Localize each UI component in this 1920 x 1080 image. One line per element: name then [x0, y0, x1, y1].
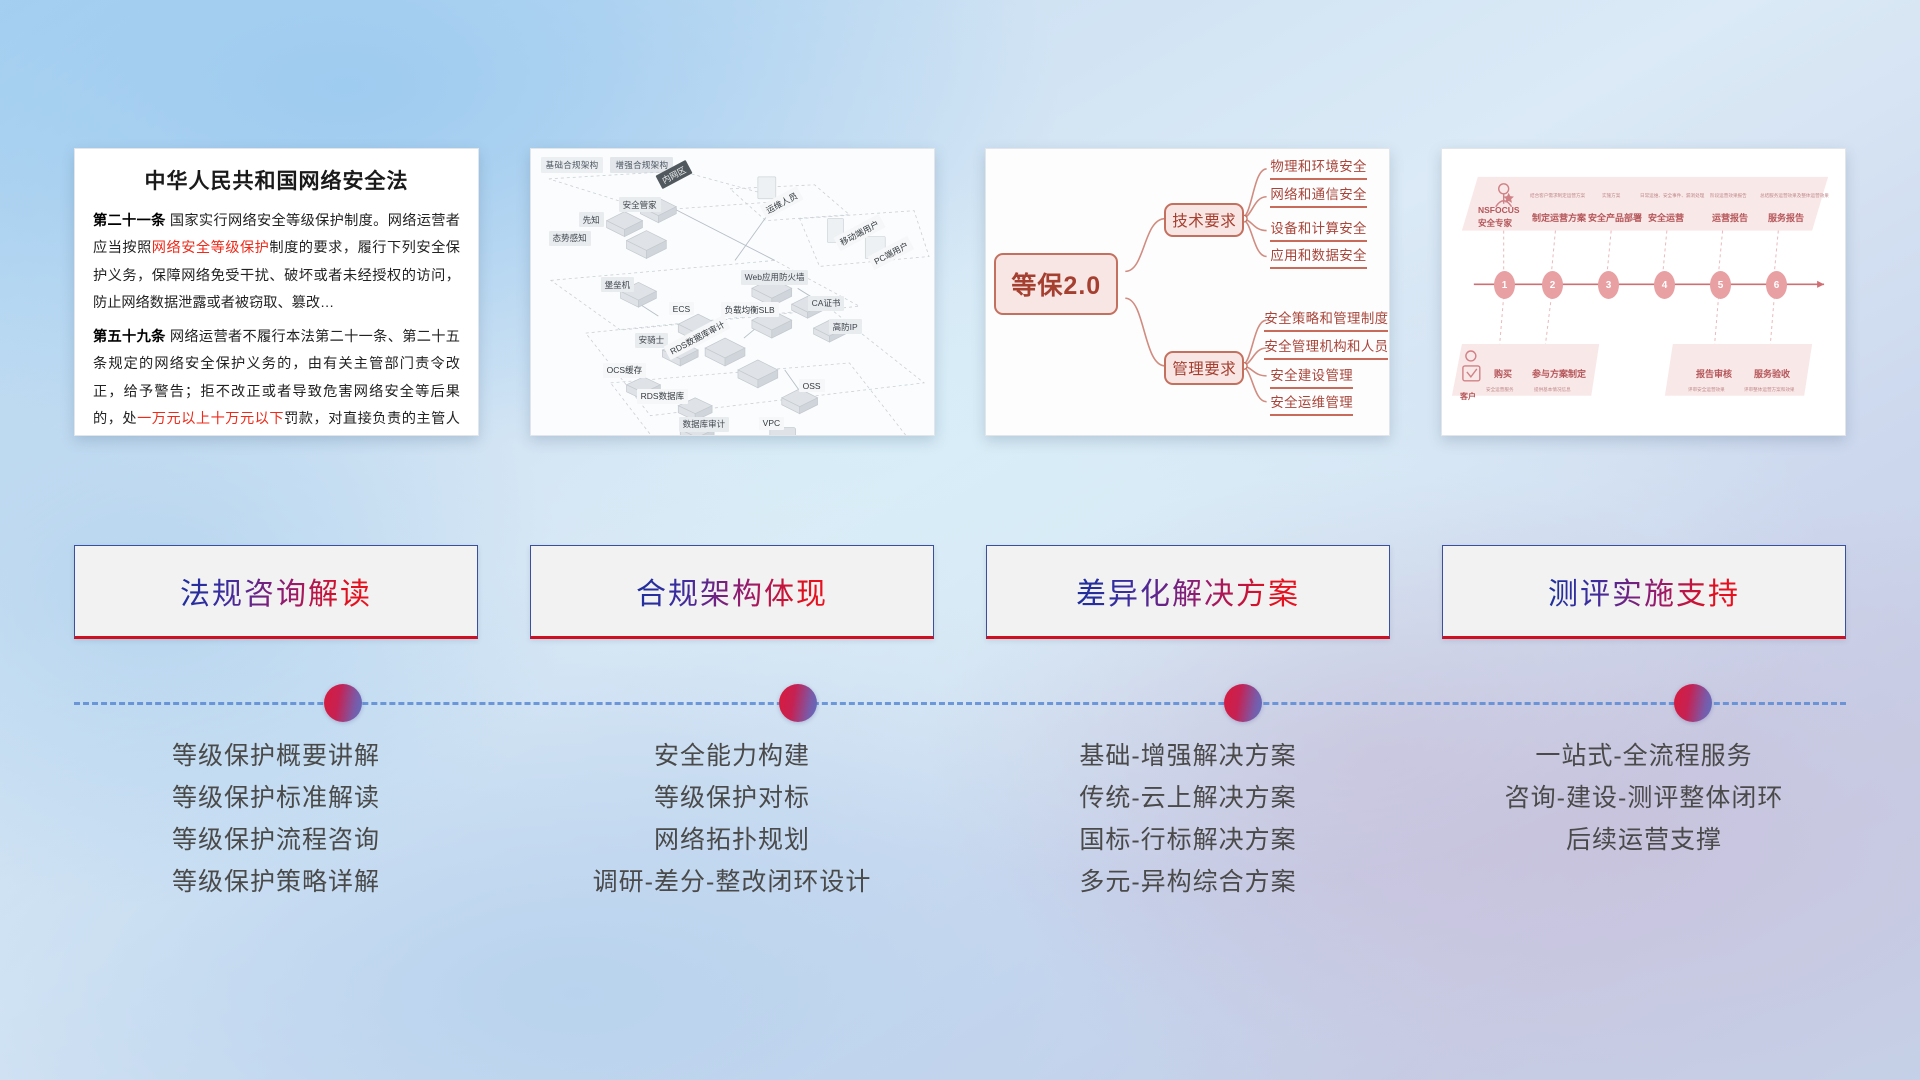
architecture-node-14: 负载均衡SLB: [721, 302, 779, 317]
list-item: 等级保护标准解读: [74, 777, 478, 819]
list-item: 等级保护概要讲解: [74, 735, 478, 777]
flow-bottom-sub-3: 评审安全运营效果: [1688, 387, 1725, 393]
flow-top-title-5: 服务报告: [1768, 211, 1804, 224]
section-lists-row: 等级保护概要讲解 等级保护标准解读 等级保护流程咨询 等级保护策略详解 安全能力…: [0, 735, 1920, 995]
article-21-highlight: 网络安全等级保护: [152, 240, 270, 256]
card-law-text: 中华人民共和国网络安全法 第二十一条 国家实行网络安全等级保护制度。网络运营者应…: [74, 148, 479, 436]
architecture-node-20: VPC: [759, 417, 784, 430]
list-item: 基础-增强解决方案: [986, 735, 1390, 777]
flow-step-number-4: 4: [1654, 271, 1675, 299]
flow-actor-expert-name: NSFOCUS: [1478, 205, 1520, 215]
list-item: 安全能力构建: [530, 735, 934, 777]
flow-top-sub-1: 结合客户需求制定运营方案: [1530, 193, 1585, 199]
article-21-label: 第二十一条: [93, 213, 166, 229]
mindmap-leaf-mgmt-4: 安全运维管理: [1270, 391, 1353, 416]
list-item: 等级保护流程咨询: [74, 819, 478, 861]
section-title-box-4[interactable]: 测评实施支持: [1442, 545, 1846, 639]
architecture-canvas: [531, 149, 934, 436]
mindmap-root-node[interactable]: 等保2.0: [994, 253, 1118, 315]
mindmap-branch-management[interactable]: 管理要求: [1164, 351, 1244, 385]
flow-step-number-6: 6: [1766, 271, 1787, 299]
section-list-1: 等级保护概要讲解 等级保护标准解读 等级保护流程咨询 等级保护策略详解: [74, 735, 478, 995]
flow-step-number-5: 5: [1710, 271, 1731, 299]
card-architecture-diagram: 基础合规架构 增强合规架构: [530, 148, 935, 436]
architecture-node-4: 态势感知: [549, 231, 591, 246]
flow-bottom-sub-2: 提供基本情况信息: [1534, 387, 1571, 393]
flow-top-title-4: 运营报告: [1712, 211, 1748, 224]
flow-top-sub-3: 日常运维、安全事件、漏洞处理: [1640, 193, 1704, 199]
timeline: [74, 680, 1846, 730]
mindmap-leaf-mgmt-2: 安全管理机构和人员: [1264, 335, 1388, 360]
architecture-node-16: 高防IP: [829, 319, 862, 334]
flow-top-sub-4: 阶段运营效果报告: [1710, 193, 1747, 199]
flow-bottom-sub-1: 安全运营服务: [1486, 387, 1514, 393]
law-title: 中华人民共和国网络安全法: [93, 165, 460, 195]
architecture-node-19: OSS: [799, 379, 825, 392]
mindmap-branch-technical[interactable]: 技术要求: [1164, 203, 1244, 237]
flow-top-sub-5: 总结服务运营效果及整体运营效果: [1760, 193, 1829, 199]
flow-step-number-3: 3: [1598, 271, 1619, 299]
article-59-highlight-1: 一万元以上十万元以下: [137, 411, 284, 427]
flow-top-title-2: 安全产品部署: [1588, 211, 1642, 224]
flow-bottom-title-1: 购买: [1494, 367, 1512, 380]
list-item: 多元-异构综合方案: [986, 861, 1390, 903]
list-item: 调研-差分-整改闭环设计: [530, 861, 934, 903]
section-title-label-3: 差异化解决方案: [1076, 569, 1300, 613]
list-item: 一站式-全流程服务: [1442, 735, 1846, 777]
architecture-node-15: CA证书: [808, 296, 845, 311]
flow-bottom-sub-4: 评审整体运营方案和效果: [1744, 387, 1795, 393]
timeline-dot-1[interactable]: [324, 684, 362, 722]
section-title-box-1[interactable]: 法规咨询解读: [74, 545, 478, 639]
section-list-3: 基础-增强解决方案 传统-云上解决方案 国标-行标解决方案 多元-异构综合方案: [986, 735, 1390, 995]
timeline-dot-3[interactable]: [1224, 684, 1262, 722]
timeline-dot-2[interactable]: [779, 684, 817, 722]
mindmap-leaf-mgmt-1: 安全策略和管理制度: [1264, 307, 1388, 332]
card-service-flow: NSFOCUS 安全专家 客户 结合客户需求制定运营方案 制定运营方案 实施方案…: [1441, 148, 1846, 436]
mindmap-leaf-tech-4: 应用和数据安全: [1270, 244, 1367, 269]
law-article-59: 第五十九条 网络运营者不履行本法第二十一条、第二十五条规定的网络安全保护义务的，…: [93, 324, 460, 436]
flow-bottom-title-4: 服务验收: [1754, 367, 1790, 380]
section-list-4: 一站式-全流程服务 咨询-建设-测评整体闭环 后续运营支撑: [1442, 735, 1846, 995]
section-title-label-4: 测评实施支持: [1548, 569, 1740, 613]
article-59-label: 第五十九条: [93, 329, 166, 345]
flow-top-sub-2: 实施方案: [1602, 193, 1620, 199]
architecture-node-11: 数据库审计: [679, 417, 730, 432]
section-title-label-1: 法规咨询解读: [180, 569, 372, 613]
flow-step-number-2: 2: [1542, 271, 1563, 299]
law-article-21: 第二十一条 国家实行网络安全等级保护制度。网络运营者应当按照网络安全等级保护制度…: [93, 208, 460, 317]
flow-bottom-title-3: 报告审核: [1696, 367, 1732, 380]
cards-row: 中华人民共和国网络安全法 第二十一条 国家实行网络安全等级保护制度。网络运营者应…: [0, 148, 1920, 446]
list-item: 国标-行标解决方案: [986, 819, 1390, 861]
architecture-node-5: 堡垒机: [601, 277, 635, 292]
list-item: 等级保护对标: [530, 777, 934, 819]
architecture-node-9: OCS缓存: [603, 363, 646, 378]
flow-step-number-1: 1: [1494, 271, 1515, 299]
flow-actor-expert-role: 安全专家: [1478, 217, 1512, 229]
flow-bottom-title-2: 参与方案制定: [1532, 367, 1586, 380]
mindmap-leaf-tech-2: 网络和通信安全: [1270, 183, 1367, 208]
mindmap-leaf-mgmt-3: 安全建设管理: [1270, 364, 1353, 389]
section-title-label-2: 合规架构体现: [636, 569, 828, 613]
list-item: 咨询-建设-测评整体闭环: [1442, 777, 1846, 819]
section-titles-row: 法规咨询解读 合规架构体现 差异化解决方案 测评实施支持: [0, 545, 1920, 641]
section-title-box-2[interactable]: 合规架构体现: [530, 545, 934, 639]
architecture-node-3: 先知: [579, 212, 604, 227]
list-item: 网络拓扑规划: [530, 819, 934, 861]
architecture-node-13: Web应用防火墙: [741, 270, 809, 285]
list-item: 等级保护策略详解: [74, 861, 478, 903]
timeline-dot-4[interactable]: [1674, 684, 1712, 722]
list-item: 传统-云上解决方案: [986, 777, 1390, 819]
card-mindmap: 等保2.0 技术要求 管理要求 物理和环境安全 网络和通信安全 设备和计算安全 …: [985, 148, 1390, 436]
mindmap-leaf-tech-3: 设备和计算安全: [1270, 217, 1367, 242]
section-title-box-3[interactable]: 差异化解决方案: [986, 545, 1390, 639]
flow-top-title-3: 安全运营: [1648, 211, 1684, 224]
architecture-node-2: 安全管家: [619, 197, 661, 212]
flow-top-title-1: 制定运营方案: [1532, 211, 1586, 224]
slide-stage: 中华人民共和国网络安全法 第二十一条 国家实行网络安全等级保护制度。网络运营者应…: [0, 0, 1920, 1080]
flow-actor-customer-role: 客户: [1460, 391, 1476, 402]
section-list-2: 安全能力构建 等级保护对标 网络拓扑规划 调研-差分-整改闭环设计: [530, 735, 934, 995]
mindmap-leaf-tech-1: 物理和环境安全: [1270, 155, 1367, 180]
architecture-node-10: RDS数据库: [637, 389, 688, 404]
architecture-node-6: ECS: [669, 302, 694, 315]
list-item: 后续运营支撑: [1442, 819, 1846, 861]
